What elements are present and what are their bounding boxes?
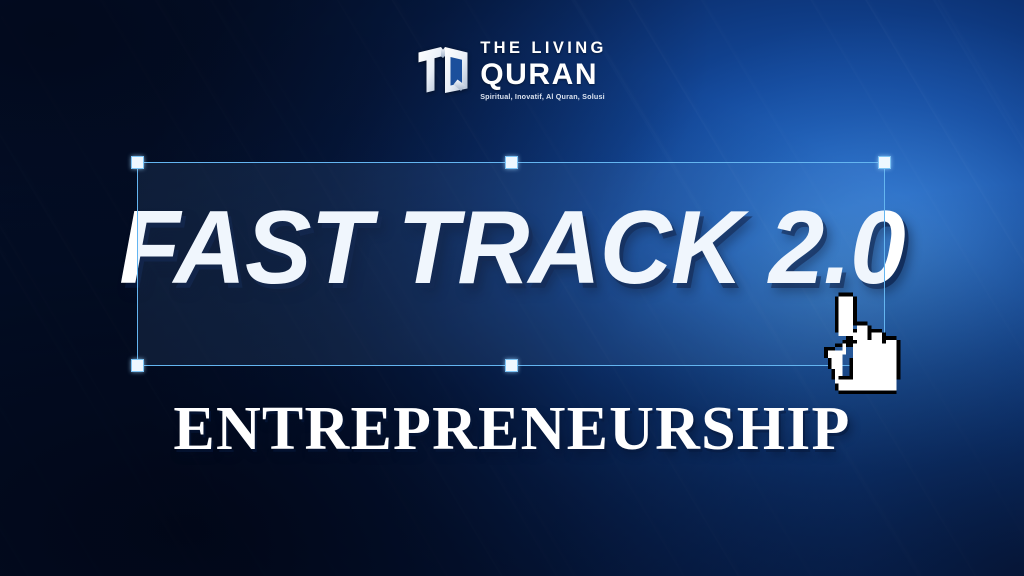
brand-line-quran: QURAN: [480, 60, 598, 90]
brand-wordmark: THE LIVING QURAN Spiritual, Inovatif, Al…: [480, 40, 607, 100]
slide-canvas: THE LIVING QURAN Spiritual, Inovatif, Al…: [0, 0, 1024, 576]
brand-line-the-living: THE LIVING: [480, 40, 607, 57]
open-book-tq-monogram-icon: [417, 45, 469, 95]
brand-logo: THE LIVING QURAN Spiritual, Inovatif, Al…: [0, 40, 1024, 100]
slide-title: FAST TRACK 2.0: [20, 196, 1003, 300]
slide-subtitle: ENTREPRENEURSHIP: [0, 398, 1024, 460]
brand-tagline: Spiritual, Inovatif, Al Quran, Solusi: [480, 93, 605, 100]
